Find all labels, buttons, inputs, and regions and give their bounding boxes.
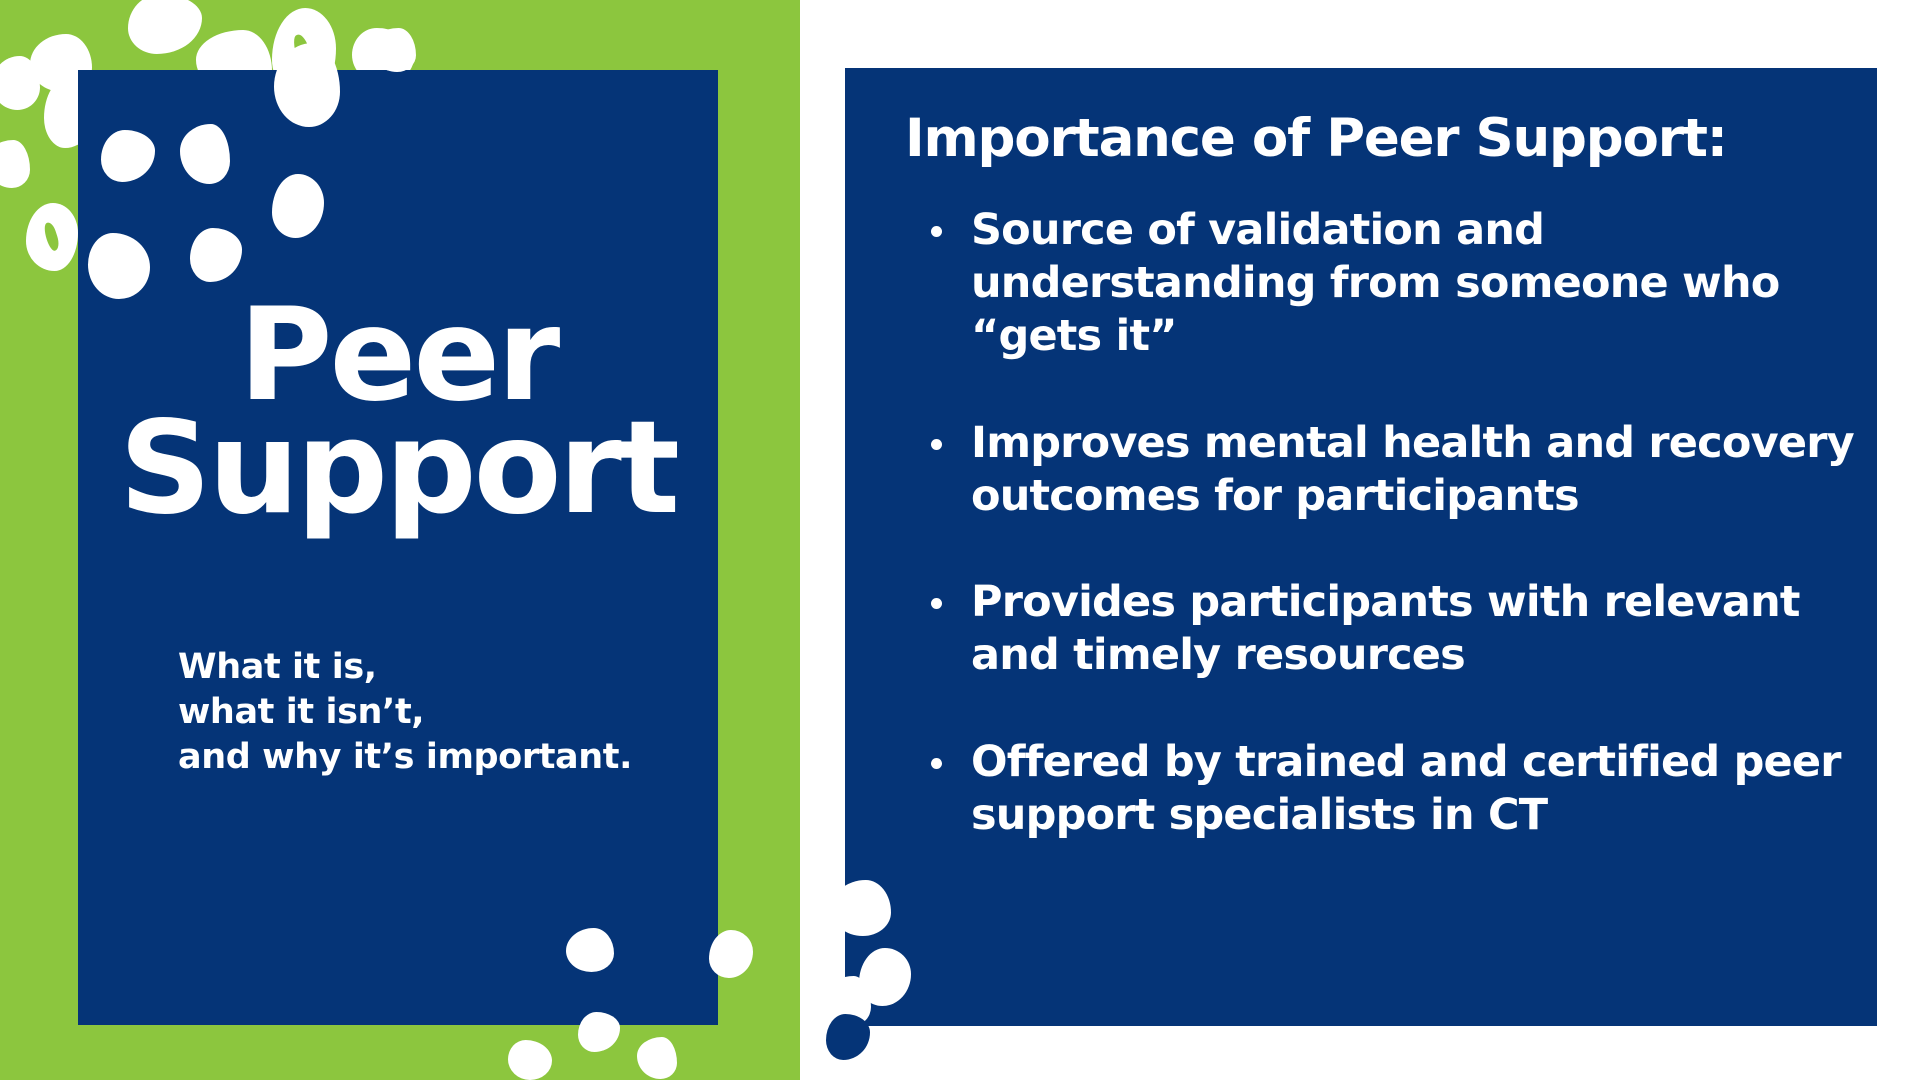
list-item: Improves mental health and recovery outc… bbox=[903, 417, 1863, 523]
right-content-panel: Importance of Peer Support: Source of va… bbox=[845, 68, 1877, 1026]
bullet-dot-icon bbox=[931, 598, 942, 609]
decor-blob bbox=[845, 880, 891, 936]
left-panel: Peer Support What it is, what it isn’t, … bbox=[0, 0, 800, 1080]
bullet-dot-icon bbox=[931, 758, 942, 769]
subtitle-block: What it is, what it isn’t, and why it’s … bbox=[178, 645, 698, 779]
subtitle-line-2: what it isn’t, bbox=[178, 690, 698, 735]
subtitle-line-1: What it is, bbox=[178, 645, 698, 690]
slide-root: Peer Support What it is, what it isn’t, … bbox=[0, 0, 1920, 1080]
list-item-text: Provides participants with relevant and … bbox=[971, 577, 1800, 680]
list-item: Source of validation and understanding f… bbox=[903, 204, 1863, 363]
decor-blob bbox=[0, 56, 40, 110]
importance-bullet-list: Source of validation and understanding f… bbox=[903, 204, 1863, 842]
decor-blob bbox=[826, 1014, 870, 1060]
decor-blob bbox=[566, 928, 614, 972]
subtitle-line-3: and why it’s important. bbox=[178, 735, 698, 780]
title-line-2: Support bbox=[78, 413, 718, 526]
bullet-dot-icon bbox=[931, 226, 942, 237]
list-item: Provides participants with relevant and … bbox=[903, 576, 1863, 682]
list-item: Offered by trained and certified peer su… bbox=[903, 736, 1863, 842]
list-item-text: Source of validation and understanding f… bbox=[971, 205, 1780, 361]
bullet-dot-icon bbox=[931, 439, 942, 450]
decor-blob-ring bbox=[26, 203, 78, 271]
page-title: Peer Support bbox=[78, 300, 718, 525]
list-item-text: Improves mental health and recovery outc… bbox=[971, 418, 1854, 521]
decor-blob bbox=[274, 43, 340, 127]
right-panel-heading: Importance of Peer Support: bbox=[905, 108, 1727, 169]
list-item-text: Offered by trained and certified peer su… bbox=[971, 737, 1841, 840]
title-card bbox=[78, 70, 718, 1025]
